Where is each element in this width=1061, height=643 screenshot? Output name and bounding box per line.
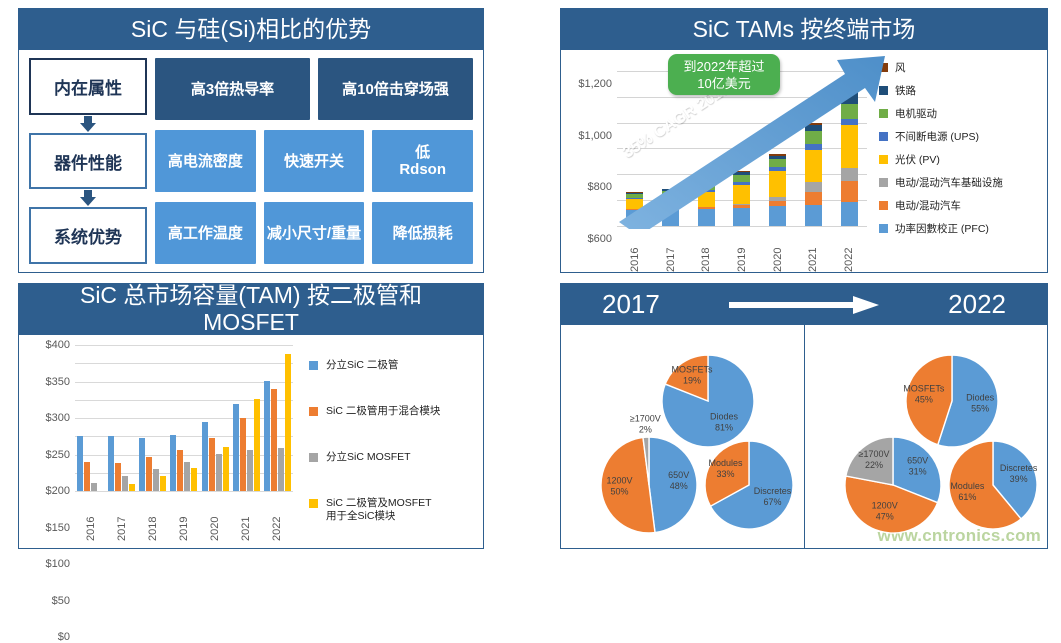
callout-billion-dollars: 到2022年超过 10亿美元 [668, 54, 780, 95]
legend-swatch [879, 201, 888, 210]
flow-benefit-grid: 高3倍热导率 高10倍击穿场强 高电流密度 快速开关 低 Rdson 高工作温度… [155, 58, 473, 264]
x-tick: 2018 [698, 230, 715, 272]
legend-item[interactable]: SiC 二极管用于混合模块 [309, 405, 484, 418]
legend-swatch [879, 178, 888, 187]
q4-body: Diodes81%MOSFETs19%650V48%1200V50%≥1700V… [560, 325, 1048, 549]
pie-chart-package-2017: Discretes67%Modules33% [679, 415, 819, 555]
slide-canvas: SiC 与硅(Si)相比的优势 内在属性 器件性能 系统优势 高3倍热导率 [0, 0, 1061, 557]
y-tick-label: $800 [588, 181, 612, 193]
grouped-chart-legend: 分立SiC 二极管SiC 二极管用于混合模块分立SiC MOSFETSiC 二极… [309, 343, 484, 539]
bar [139, 438, 145, 491]
y-tick-label: $250 [46, 449, 70, 461]
pie-column-2022: www.cntronics.com Diodes55%MOSFETs45%650… [804, 325, 1048, 548]
bar-segment [841, 104, 858, 118]
benefit-low-rdson: 低 Rdson [372, 130, 473, 192]
y-tick-label: $200 [46, 485, 70, 497]
pie-chart-package-2022: Discretes39%Modules61% [923, 415, 1061, 555]
legend-label: 风 [895, 60, 906, 75]
legend-swatch [309, 407, 318, 416]
x-axis-labels: 2016201720182019202020212022 [75, 493, 293, 541]
x-tick-label: 2018 [700, 230, 712, 272]
bar [153, 469, 159, 491]
legend-swatch [879, 109, 888, 118]
bar-segment [698, 192, 715, 206]
pie-column-2017: Diodes81%MOSFETs19%650V48%1200V50%≥1700V… [561, 325, 804, 548]
bar [271, 389, 277, 491]
q3-title: SiC 总市场容量(TAM) 按二极管和 MOSFET [18, 283, 484, 335]
stacked-bar-2017 [662, 189, 679, 226]
legend-item[interactable]: 分立SiC MOSFET [309, 451, 484, 464]
x-tick-label: 2022 [843, 230, 855, 272]
year-label-2022: 2022 [948, 291, 1006, 318]
bar [191, 468, 197, 491]
flow-stage-device: 器件性能 [29, 133, 147, 190]
bar [264, 381, 270, 491]
x-axis-labels: 2016201720182019202020212022 [617, 230, 867, 272]
bar [108, 436, 114, 491]
benefit-lower-loss: 降低损耗 [372, 202, 473, 264]
bar [202, 422, 208, 491]
bar [209, 438, 215, 491]
bar-segment [841, 202, 858, 226]
bar-group-2016 [77, 436, 104, 491]
bar-segment [698, 209, 715, 226]
bar [177, 450, 183, 491]
benefit-thermal-conductivity: 高3倍热导率 [155, 58, 310, 120]
benefit-high-temperature: 高工作温度 [155, 202, 256, 264]
bar [278, 448, 284, 491]
bar [146, 457, 152, 491]
y-tick-label: $50 [52, 595, 70, 607]
bar-group-2019 [170, 435, 197, 491]
legend-swatch [879, 63, 888, 72]
x-tick: 2022 [841, 230, 858, 272]
flow-arrow-2 [29, 189, 147, 207]
q3-body: $0$50$100$150$200$250$300$350$400 201620… [18, 335, 484, 549]
x-tick: 2016 [77, 493, 104, 541]
legend-item[interactable]: 电机驱动 [879, 102, 1049, 125]
benefit-size-weight: 减小尺寸/重量 [264, 202, 365, 264]
bar [233, 404, 239, 491]
legend-label: 电动/混动汽车 [895, 198, 961, 213]
legend-item[interactable]: 风 [879, 56, 1049, 79]
legend-swatch [879, 155, 888, 164]
bar [115, 463, 121, 491]
bar-segment [626, 199, 643, 209]
gridline: $0 [75, 491, 293, 492]
advantage-flow-diagram: 内在属性 器件性能 系统优势 高3倍热导率 高10倍击穿场强 [29, 58, 473, 264]
bar-segment [662, 198, 679, 209]
legend-item[interactable]: 电动/混动汽车 [879, 194, 1049, 217]
x-tick: 2019 [170, 493, 197, 541]
bar [129, 484, 135, 491]
benefit-row-device: 高电流密度 快速开关 低 Rdson [155, 130, 473, 202]
y-tick-label: $100 [46, 558, 70, 570]
q2-title: SiC TAMs 按终端市场 [560, 8, 1048, 50]
bar-segment [733, 185, 750, 204]
bar-segment [805, 182, 822, 193]
bar-group-2022 [264, 354, 291, 491]
bar-segment [698, 183, 715, 190]
bar-segment [733, 208, 750, 226]
stacked-bar-2018 [698, 180, 715, 226]
bar [122, 476, 128, 491]
benefit-current-density: 高电流密度 [155, 130, 256, 192]
stacked-bar-2020 [769, 154, 786, 226]
stacked-bar-chart: $0$200$400$600$800$1,000$1,200 201620172… [561, 50, 1047, 272]
bar [84, 462, 90, 491]
flow-arrow-1 [29, 115, 147, 133]
bar [254, 399, 260, 491]
stacked-bar-2016 [626, 192, 643, 226]
bar [223, 447, 229, 491]
legend-swatch [309, 361, 318, 370]
x-tick-label: 2017 [116, 493, 128, 541]
x-tick-label: 2016 [629, 230, 641, 272]
legend-label: 功率因數校正 (PFC) [895, 221, 989, 236]
bar [91, 483, 97, 491]
x-tick-label: 2019 [736, 230, 748, 272]
x-tick: 2018 [139, 493, 166, 541]
panel-sic-tams-by-end-market: SiC TAMs 按终端市场 $0$200$400$600$800$1,000$… [560, 8, 1048, 273]
bar-segment [769, 206, 786, 226]
x-tick: 2017 [662, 230, 679, 272]
gridline: $0 [617, 226, 867, 227]
panel-sic-tam-by-diode-mosfet: SiC 总市场容量(TAM) 按二极管和 MOSFET $0$50$100$15… [18, 283, 484, 549]
bar-segment [626, 210, 643, 226]
x-tick: 2020 [769, 230, 786, 272]
bar-segment [769, 171, 786, 198]
bar-segment [733, 175, 750, 182]
legend-swatch [309, 499, 318, 508]
x-tick-label: 2020 [772, 230, 784, 272]
bar-segment [841, 119, 858, 126]
legend-label: 分立SiC 二极管 [326, 359, 398, 372]
legend-label: SiC 二极管及MOSFET 用于全SiC模块 [326, 497, 432, 523]
bar-group-2017 [108, 436, 135, 491]
bar [184, 462, 190, 491]
x-tick-label: 2021 [807, 230, 819, 272]
legend-swatch [309, 453, 318, 462]
grouped-bar-chart: $0$50$100$150$200$250$300$350$400 201620… [19, 335, 483, 548]
bar [77, 436, 83, 491]
bar [240, 418, 246, 491]
benefit-fast-switching: 快速开关 [264, 130, 365, 192]
pie-slice-label: ≥1700V2% [630, 414, 661, 435]
q1-title: SiC 与硅(Si)相比的优势 [18, 8, 484, 50]
grouped-plot-area: $0$50$100$150$200$250$300$350$400 [75, 345, 293, 491]
y-tick-label: $150 [46, 522, 70, 534]
stacked-bar-2021 [805, 123, 822, 226]
panel-2017-vs-2022-pies: 2017 2022 Diodes81%MOSFETs19%650V48%1200… [560, 283, 1048, 549]
legend-item[interactable]: 分立SiC 二极管 [309, 359, 484, 372]
legend-swatch [879, 132, 888, 141]
bar-segment [841, 181, 858, 202]
q2-body: $0$200$400$600$800$1,000$1,200 201620172… [560, 50, 1048, 273]
q4-title-bar: 2017 2022 [560, 283, 1048, 325]
x-tick: 2020 [202, 493, 229, 541]
legend-swatch [879, 224, 888, 233]
x-tick-label: 2019 [178, 493, 190, 541]
y-tick-label: $350 [46, 376, 70, 388]
x-tick-label: 2018 [147, 493, 159, 541]
panel-sic-vs-si: SiC 与硅(Si)相比的优势 内在属性 器件性能 系统优势 高3倍热导率 [18, 8, 484, 273]
flow-stage-intrinsic: 内在属性 [29, 58, 147, 115]
bar-segment [841, 91, 858, 105]
bar-group-2018 [139, 438, 166, 491]
y-tick-label: $600 [588, 233, 612, 245]
bar [247, 450, 253, 491]
legend-item[interactable]: 不间断电源 (UPS) [879, 125, 1049, 148]
x-tick: 2021 [805, 230, 822, 272]
bar [160, 476, 166, 491]
bar-segment [662, 210, 679, 226]
right-arrow-icon [729, 294, 879, 314]
legend-label: 铁路 [895, 83, 916, 98]
y-tick-label: $300 [46, 412, 70, 424]
stacked-chart-legend: 风铁路电机驱动不间断电源 (UPS)光伏 (PV)电动/混动汽车基础设施电动/混… [879, 56, 1049, 240]
q1-body: 内在属性 器件性能 系统优势 高3倍热导率 高10倍击穿场强 [18, 50, 484, 273]
bar-group-2021 [233, 399, 260, 491]
flow-stage-system: 系统优势 [29, 207, 147, 264]
bar-segment [805, 150, 822, 182]
legend-item[interactable]: 光伏 (PV) [879, 148, 1049, 171]
stacked-bar-2019 [733, 171, 750, 226]
legend-label: 电机驱动 [895, 106, 937, 121]
flow-stage-column: 内在属性 器件性能 系统优势 [29, 58, 147, 264]
x-tick: 2019 [733, 230, 750, 272]
x-tick-label: 2016 [85, 493, 97, 541]
stacked-bar-2022 [841, 88, 858, 226]
legend-swatch [879, 86, 888, 95]
bar-segment [805, 205, 822, 226]
legend-label: 分立SiC MOSFET [326, 451, 411, 464]
bar-segment [805, 131, 822, 144]
x-tick: 2022 [264, 493, 291, 541]
benefit-row-system: 高工作温度 减小尺寸/重量 降低损耗 [155, 202, 473, 264]
x-tick-label: 2017 [665, 230, 677, 272]
bar-segment [841, 125, 858, 168]
y-tick-label: $1,200 [578, 78, 612, 90]
grouped-bars [75, 345, 293, 491]
x-tick: 2016 [626, 230, 643, 272]
bar-segment [769, 159, 786, 167]
bar-segment [805, 192, 822, 204]
year-label-2017: 2017 [602, 291, 660, 318]
bar [285, 354, 291, 491]
y-tick-label: $400 [46, 339, 70, 351]
benefit-breakdown-field: 高10倍击穿场强 [318, 58, 473, 120]
benefit-row-intrinsic: 高3倍热导率 高10倍击穿场强 [155, 58, 473, 130]
x-tick-label: 2020 [209, 493, 221, 541]
bar [216, 454, 222, 491]
x-tick-label: 2022 [271, 493, 283, 541]
legend-item[interactable]: 功率因數校正 (PFC) [879, 217, 1049, 240]
x-tick-label: 2021 [240, 493, 252, 541]
legend-label: 电动/混动汽车基础设施 [895, 175, 1003, 190]
legend-item[interactable]: SiC 二极管及MOSFET 用于全SiC模块 [309, 497, 484, 523]
x-tick: 2021 [233, 493, 260, 541]
legend-label: 光伏 (PV) [895, 152, 940, 167]
legend-label: SiC 二极管用于混合模块 [326, 405, 440, 418]
y-tick-label: $0 [58, 631, 70, 643]
legend-label: 不间断电源 (UPS) [895, 129, 979, 144]
y-tick-label: $1,000 [578, 130, 612, 142]
x-tick: 2017 [108, 493, 135, 541]
bar-segment [841, 168, 858, 182]
bar [170, 435, 176, 491]
legend-item[interactable]: 电动/混动汽车基础设施 [879, 171, 1049, 194]
bar-group-2020 [202, 422, 229, 491]
legend-item[interactable]: 铁路 [879, 79, 1049, 102]
